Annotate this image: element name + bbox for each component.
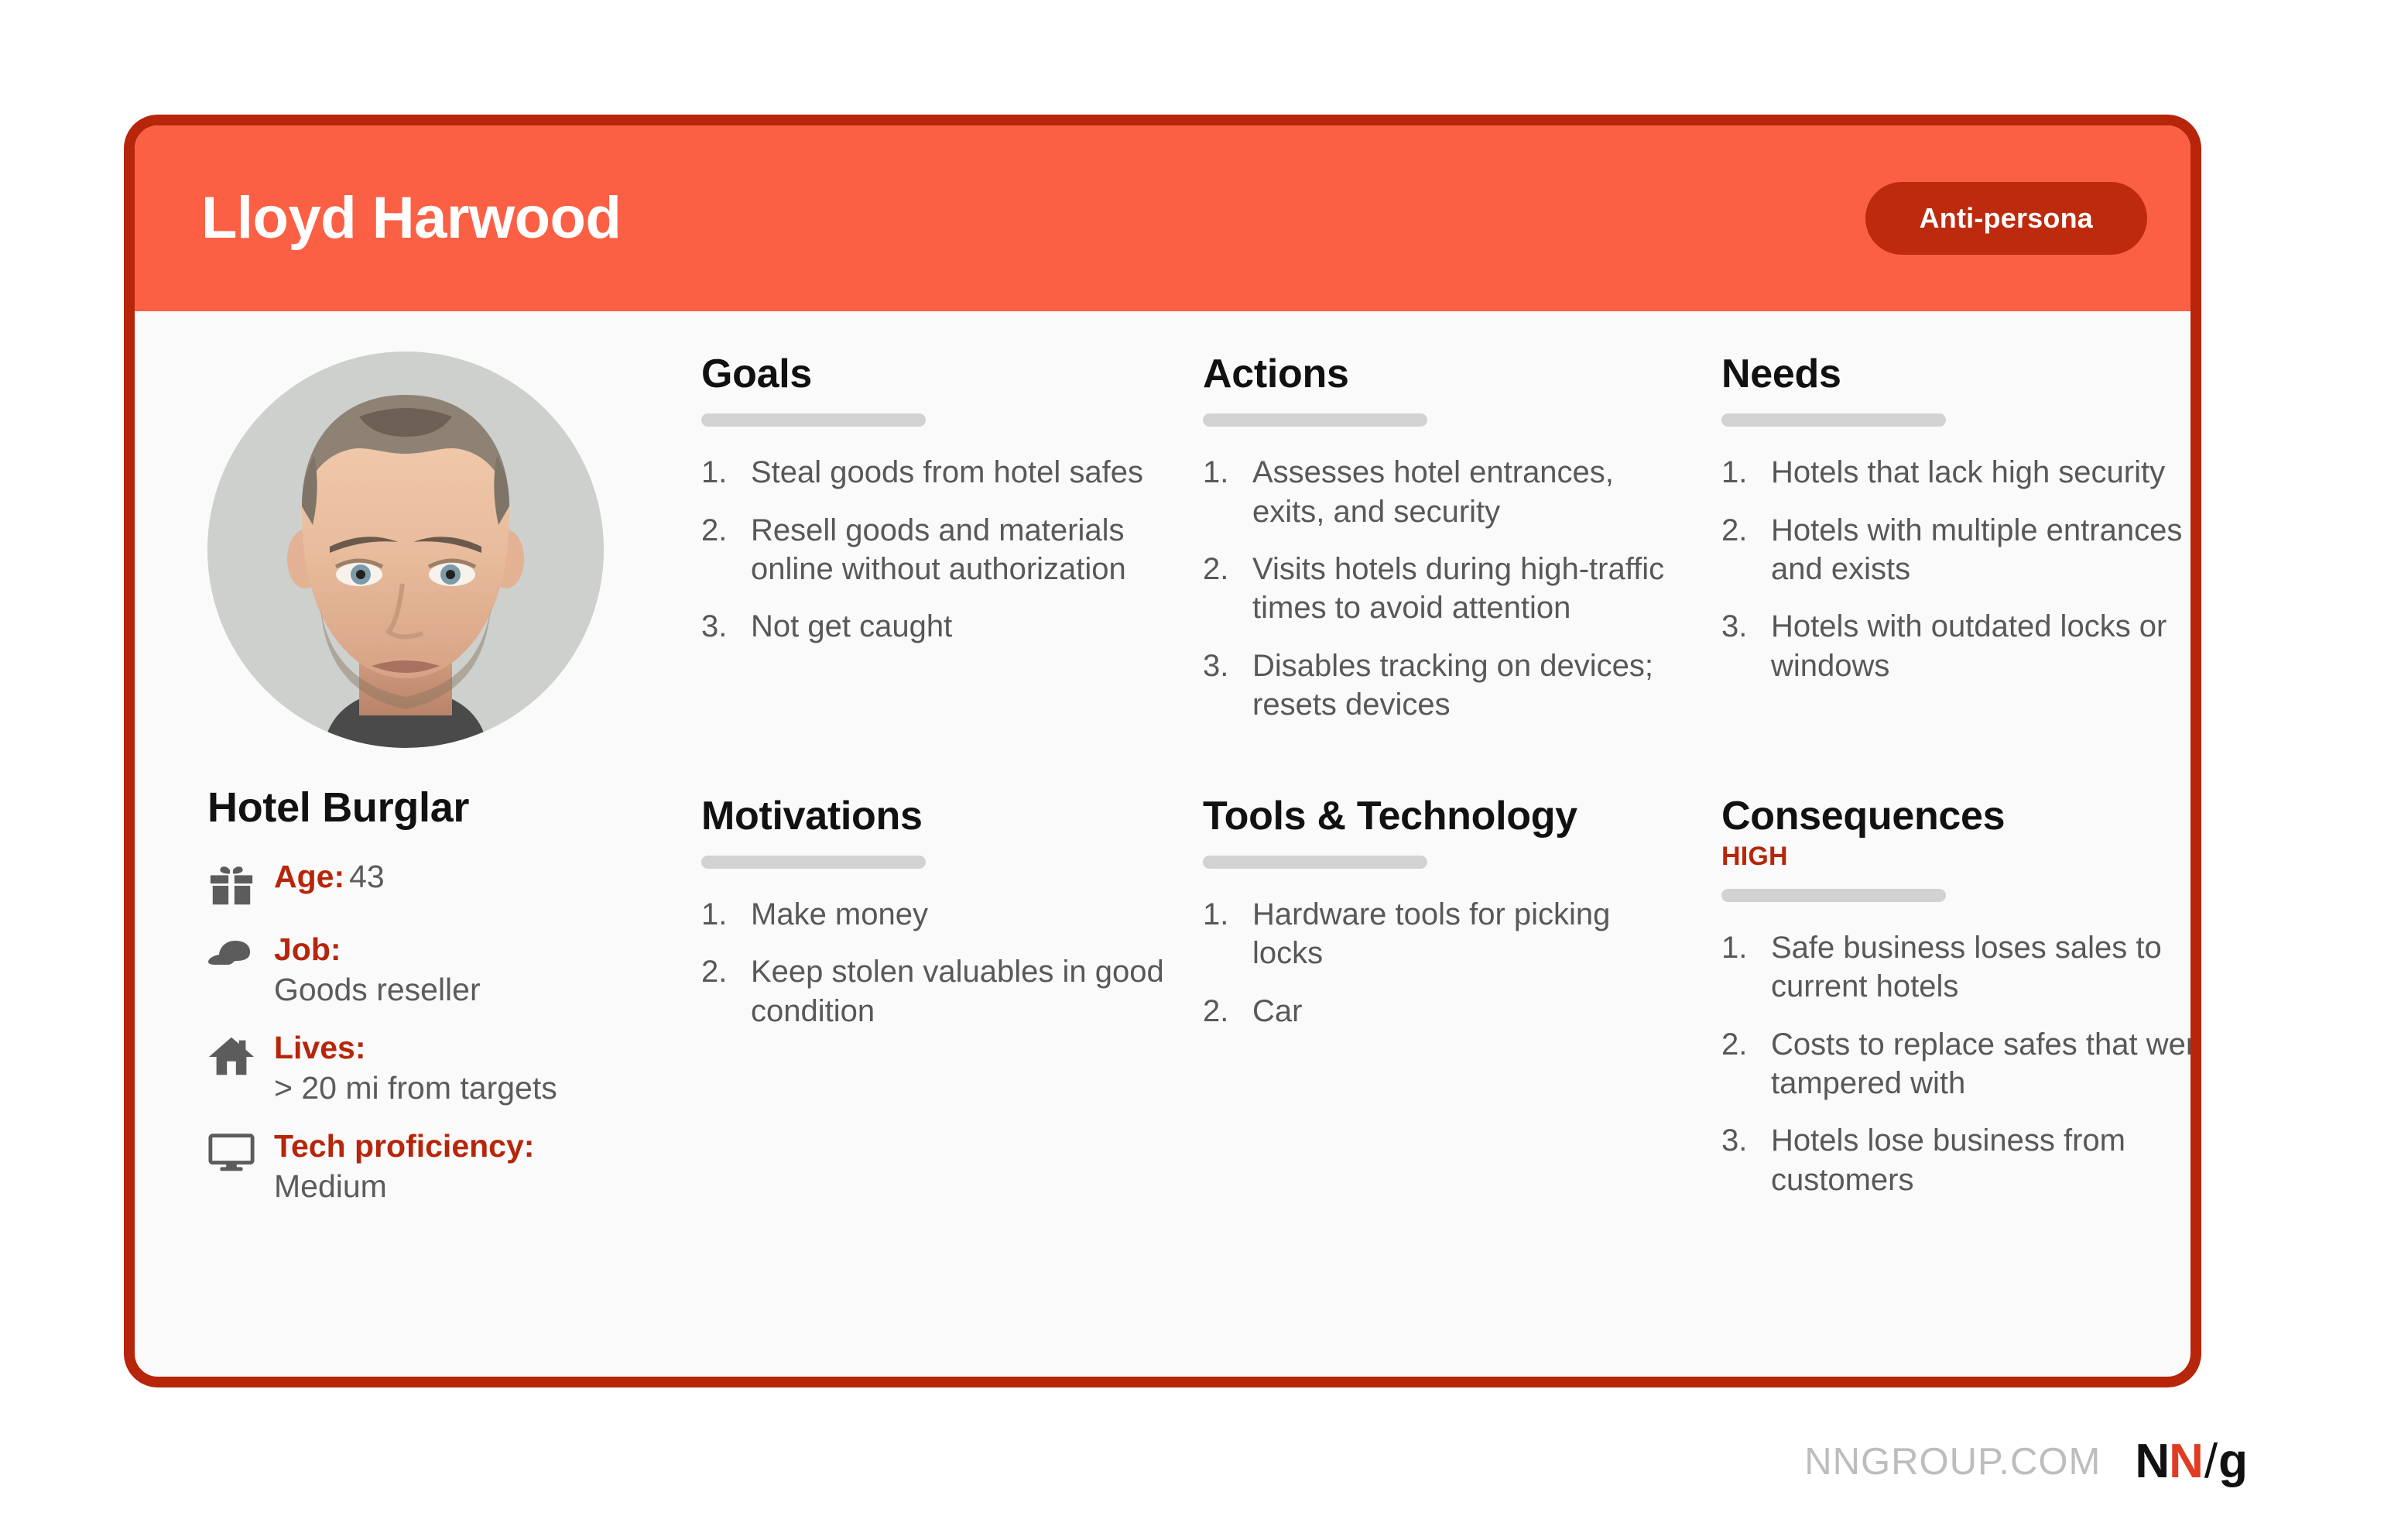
- section-actions-rule: [1203, 413, 1427, 427]
- footer: NNGROUP.COM NN/g: [1804, 1434, 2247, 1489]
- persona-name: Lloyd Harwood: [201, 189, 621, 248]
- list-item: 1. Steal goods from hotel safes: [701, 453, 1172, 492]
- anti-persona-badge[interactable]: Anti-persona: [1865, 182, 2147, 255]
- attribute-tech-text: Tech proficiency: Medium: [274, 1127, 534, 1206]
- section-actions: Actions 1. Assesses hotel entrances, exi…: [1203, 352, 1714, 750]
- nng-logo-n2: N: [2169, 1434, 2203, 1489]
- list-number: 3.: [701, 607, 751, 646]
- person-photo-avatar-icon: [207, 352, 604, 748]
- footer-url: NNGROUP.COM: [1804, 1440, 2101, 1483]
- list-text: Not get caught: [751, 607, 1172, 646]
- list-item: 3. Disables tracking on devices; resets …: [1203, 647, 1683, 725]
- list-item: 1. Safe business loses sales to current …: [1721, 928, 2201, 1007]
- list-text: Hardware tools for picking locks: [1252, 895, 1683, 973]
- nng-logo-n1: N: [2135, 1434, 2169, 1489]
- list-item: 3. Hotels lose business from customers: [1721, 1121, 2201, 1199]
- list-item: 2. Resell goods and materials online wit…: [701, 511, 1172, 589]
- attribute-tech-label: Tech proficiency:: [274, 1128, 534, 1164]
- list-item: 1. Make money: [701, 895, 1172, 934]
- section-needs: Needs 1. Hotels that lack high security …: [1714, 352, 2201, 750]
- attribute-job: Job: Goods reseller: [207, 931, 677, 1009]
- list-item: 2. Car: [1203, 992, 1683, 1031]
- section-goals: Goals 1. Steal goods from hotel safes 2.…: [692, 352, 1203, 750]
- list-number: 2.: [1721, 1025, 1771, 1103]
- list-number: 1.: [701, 453, 751, 492]
- monitor-icon: [207, 1127, 274, 1174]
- profile-column: Hotel Burglar: [135, 352, 677, 1225]
- section-goals-title: Goals: [701, 352, 1172, 396]
- nng-logo-slash: /: [2203, 1434, 2218, 1489]
- card-header: Lloyd Harwood Anti-persona: [135, 125, 2190, 311]
- cap-icon: [207, 931, 274, 974]
- list-text: Make money: [751, 895, 1172, 934]
- list-number: 2.: [701, 511, 751, 589]
- list-number: 3.: [1721, 607, 1771, 685]
- list-item: 2. Keep stolen valuables in good conditi…: [701, 952, 1172, 1031]
- attribute-job-text: Job: Goods reseller: [274, 931, 481, 1009]
- persona-card: Lloyd Harwood Anti-persona: [124, 115, 2201, 1387]
- attribute-lives-value: > 20 mi from targets: [274, 1069, 557, 1106]
- attribute-job-label: Job:: [274, 931, 341, 967]
- sections-grid: Goals 1. Steal goods from hotel safes 2.…: [677, 352, 2201, 1225]
- list-text: Safe business loses sales to current hot…: [1771, 928, 2201, 1007]
- gift-icon: [207, 858, 274, 911]
- attribute-age: Age:43: [207, 858, 677, 911]
- section-goals-rule: [701, 413, 926, 427]
- list-number: 1.: [1203, 453, 1252, 531]
- section-needs-title: Needs: [1721, 352, 2201, 396]
- section-tools-technology: Tools & Technology 1. Hardware tools for…: [1203, 750, 1714, 1226]
- attribute-lives: Lives: > 20 mi from targets: [207, 1029, 677, 1107]
- list-text: Car: [1252, 992, 1683, 1031]
- avatar: [207, 352, 604, 748]
- list-text: Hotels with outdated locks or windows: [1771, 607, 2201, 685]
- attribute-tech-value: Medium: [274, 1168, 534, 1205]
- list-number: 2.: [1721, 511, 1771, 589]
- card-body: Hotel Burglar: [135, 311, 2190, 1225]
- list-number: 1.: [701, 895, 751, 934]
- attribute-lives-label: Lives:: [274, 1030, 366, 1065]
- section-motivations-rule: [701, 856, 926, 869]
- list-item: 1. Hardware tools for picking locks: [1203, 895, 1683, 973]
- attribute-age-label: Age:: [274, 859, 344, 894]
- section-needs-rule: [1721, 413, 1946, 427]
- list-number: 1.: [1721, 928, 1771, 1007]
- attribute-tech-proficiency: Tech proficiency: Medium: [207, 1127, 677, 1206]
- list-number: 3.: [1203, 647, 1252, 725]
- list-text: Costs to replace safes that were tampere…: [1771, 1025, 2201, 1103]
- section-tools-title: Tools & Technology: [1203, 794, 1683, 839]
- list-number: 2.: [701, 952, 751, 1031]
- attribute-age-value: 43: [349, 859, 385, 894]
- list-item: 2. Costs to replace safes that were tamp…: [1721, 1025, 2201, 1103]
- attribute-job-value: Goods reseller: [274, 971, 481, 1008]
- list-number: 3.: [1721, 1121, 1771, 1199]
- section-motivations-title: Motivations: [701, 794, 1172, 839]
- list-text: Disables tracking on devices; resets dev…: [1252, 647, 1683, 725]
- section-motivations: Motivations 1. Make money 2. Keep stolen…: [692, 750, 1203, 1226]
- list-text: Hotels lose business from customers: [1771, 1121, 2201, 1199]
- list-number: 2.: [1203, 992, 1252, 1031]
- profile-role: Hotel Burglar: [207, 784, 677, 832]
- section-needs-list: 1. Hotels that lack high security 2. Hot…: [1721, 453, 2201, 685]
- section-actions-list: 1. Assesses hotel entrances, exits, and …: [1203, 453, 1683, 724]
- section-consequences-title: Consequences: [1721, 794, 2201, 839]
- list-number: 1.: [1203, 895, 1252, 973]
- nng-logo-g: g: [2218, 1434, 2247, 1489]
- list-text: Assesses hotel entrances, exits, and sec…: [1252, 453, 1683, 531]
- profile-attributes: Age:43 Job: Goods reseller: [207, 858, 677, 1205]
- section-tools-list: 1. Hardware tools for picking locks 2. C…: [1203, 895, 1683, 1031]
- section-motivations-list: 1. Make money 2. Keep stolen valuables i…: [701, 895, 1172, 1031]
- list-item: 2. Visits hotels during high-traffic tim…: [1203, 550, 1683, 628]
- consequences-severity-badge: HIGH: [1721, 842, 2201, 872]
- list-item: 2. Hotels with multiple entrances and ex…: [1721, 511, 2201, 589]
- section-consequences-rule: [1721, 889, 1946, 902]
- list-text: Hotels that lack high security: [1771, 453, 2201, 492]
- section-consequences-list: 1. Safe business loses sales to current …: [1721, 928, 2201, 1199]
- list-item: 1. Assesses hotel entrances, exits, and …: [1203, 453, 1683, 531]
- house-icon: [207, 1029, 274, 1079]
- section-goals-list: 1. Steal goods from hotel safes 2. Resel…: [701, 453, 1172, 647]
- attribute-age-text: Age:43: [274, 858, 385, 895]
- list-text: Hotels with multiple entrances and exist…: [1771, 511, 2201, 589]
- section-consequences: Consequences HIGH 1. Safe business loses…: [1714, 750, 2201, 1226]
- list-text: Resell goods and materials online withou…: [751, 511, 1172, 589]
- list-item: 1. Hotels that lack high security: [1721, 453, 2201, 492]
- section-actions-title: Actions: [1203, 352, 1683, 396]
- list-number: 2.: [1203, 550, 1252, 628]
- section-tools-rule: [1203, 856, 1427, 869]
- attribute-lives-text: Lives: > 20 mi from targets: [274, 1029, 557, 1107]
- list-item: 3. Not get caught: [701, 607, 1172, 646]
- list-text: Visits hotels during high-traffic times …: [1252, 550, 1683, 628]
- list-item: 3. Hotels with outdated locks or windows: [1721, 607, 2201, 685]
- nng-logo: NN/g: [2135, 1434, 2247, 1489]
- list-text: Steal goods from hotel safes: [751, 453, 1172, 492]
- list-text: Keep stolen valuables in good condition: [751, 952, 1172, 1031]
- list-number: 1.: [1721, 453, 1771, 492]
